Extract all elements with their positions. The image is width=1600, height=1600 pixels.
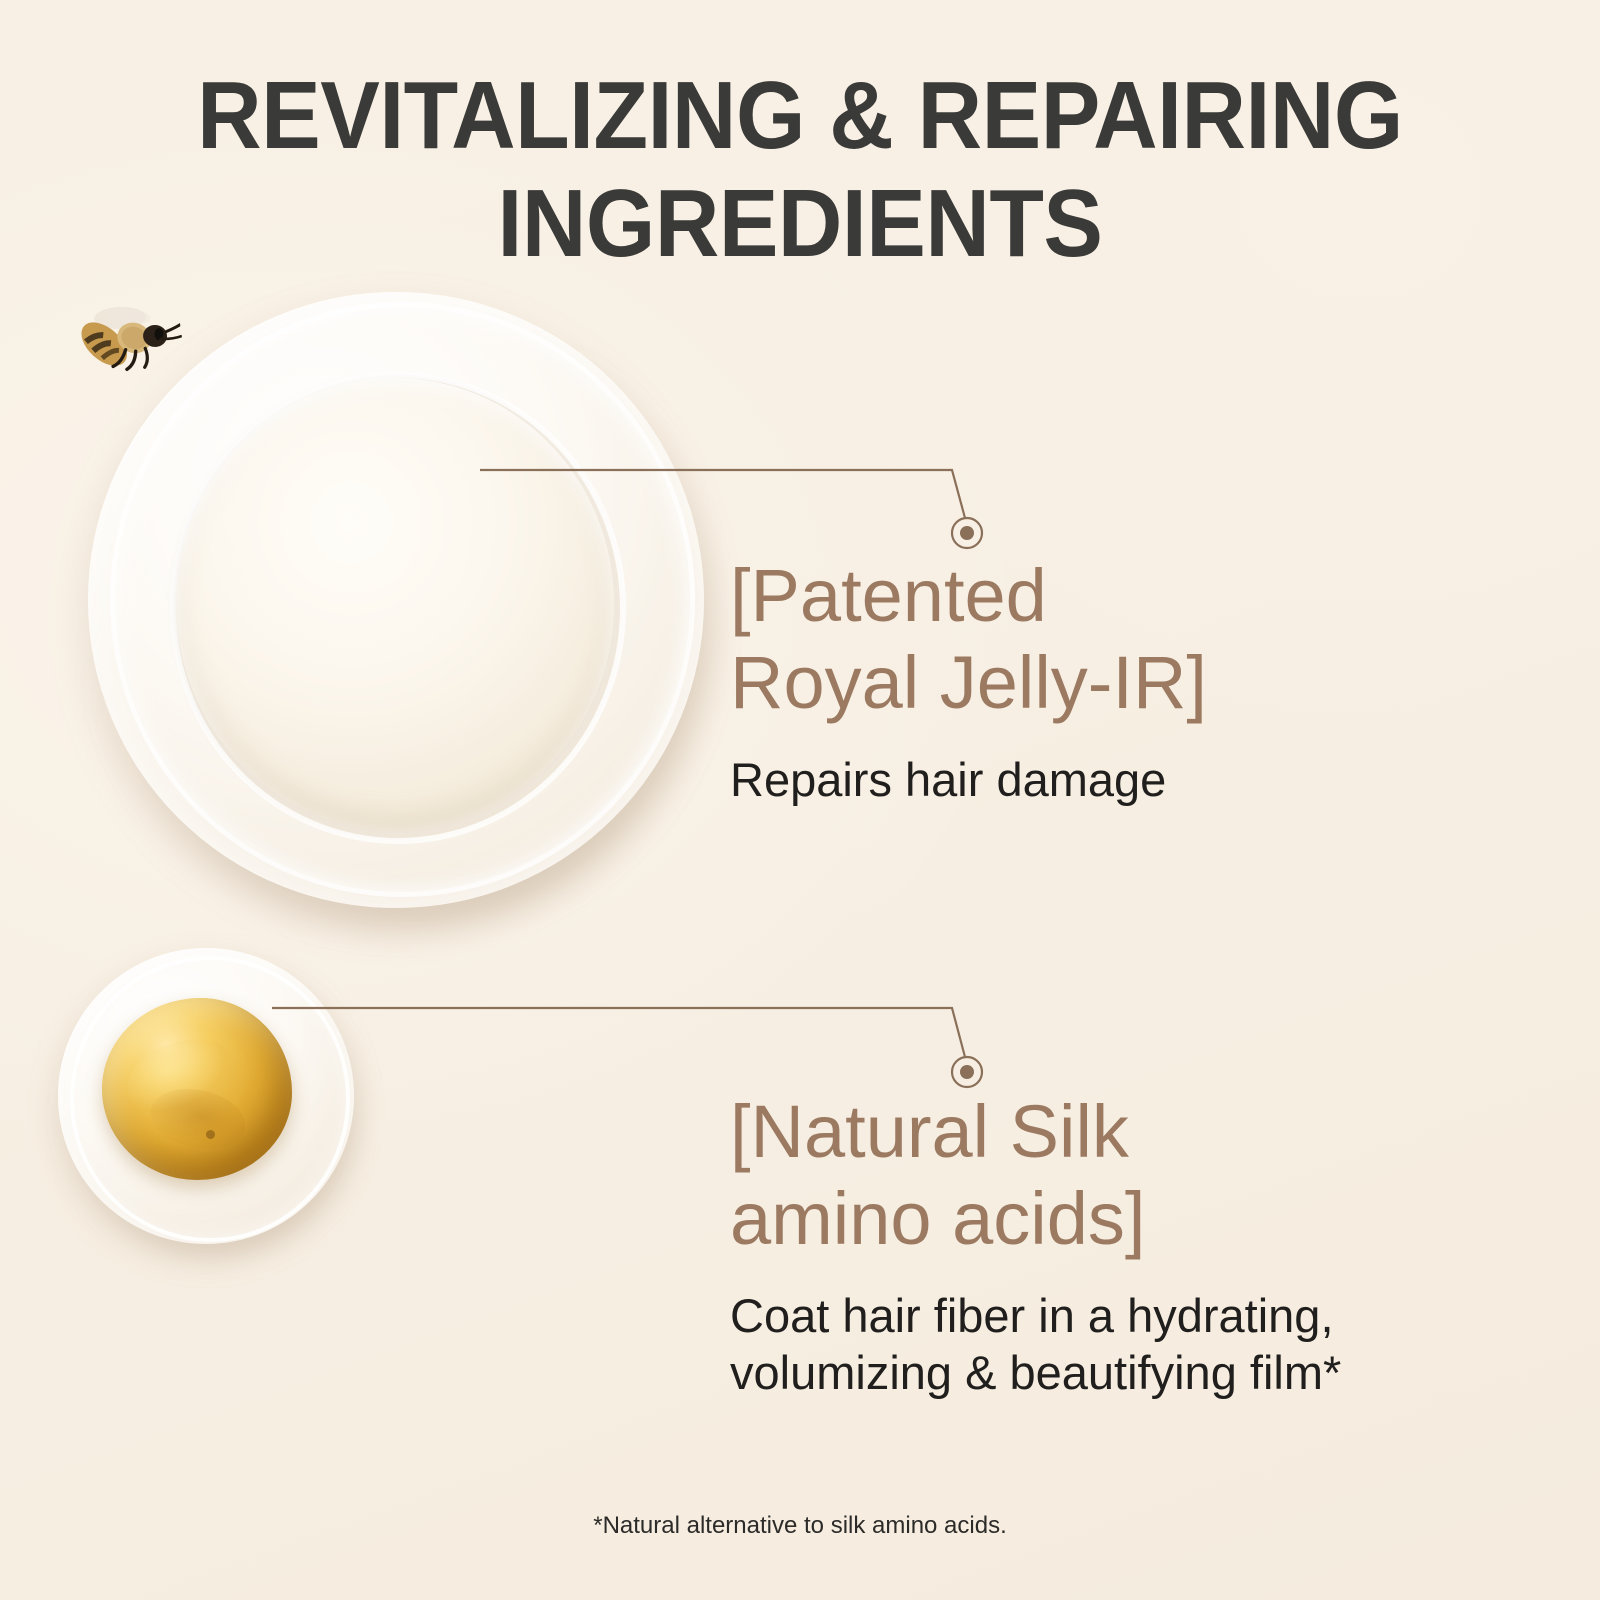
ingredient-block-royal-jelly: [Patented Royal Jelly-IR] Repairs hair d…: [730, 552, 1207, 808]
royal-jelly-cream: [176, 378, 614, 830]
honeybee-icon: [54, 274, 190, 410]
page-title: REVITALIZING & REPAIRING INGREDIENTS: [112, 62, 1488, 277]
ingredient-block-silk-amino-acids: [Natural Silk amino acids] Coat hair fib…: [730, 1088, 1341, 1401]
ingredient-heading-silk-amino-acids: [Natural Silk amino acids]: [730, 1088, 1341, 1263]
infographic-canvas: REVITALIZING & REPAIRING INGREDIENTS: [0, 0, 1600, 1600]
callout-marker-silk-amino-acids: [952, 1057, 982, 1087]
product-photo-stage: [0, 250, 760, 1300]
gold-gel-bubble: [206, 1130, 215, 1139]
ingredient-heading-royal-jelly: [Patented Royal Jelly-IR]: [730, 552, 1207, 727]
footnote: *Natural alternative to silk amino acids…: [0, 1512, 1600, 1540]
ingredient-benefit-royal-jelly: Repairs hair damage: [730, 751, 1207, 808]
callout-marker-royal-jelly: [952, 518, 982, 548]
ingredient-benefit-silk-amino-acids: Coat hair fiber in a hydrating, volumizi…: [730, 1287, 1341, 1402]
